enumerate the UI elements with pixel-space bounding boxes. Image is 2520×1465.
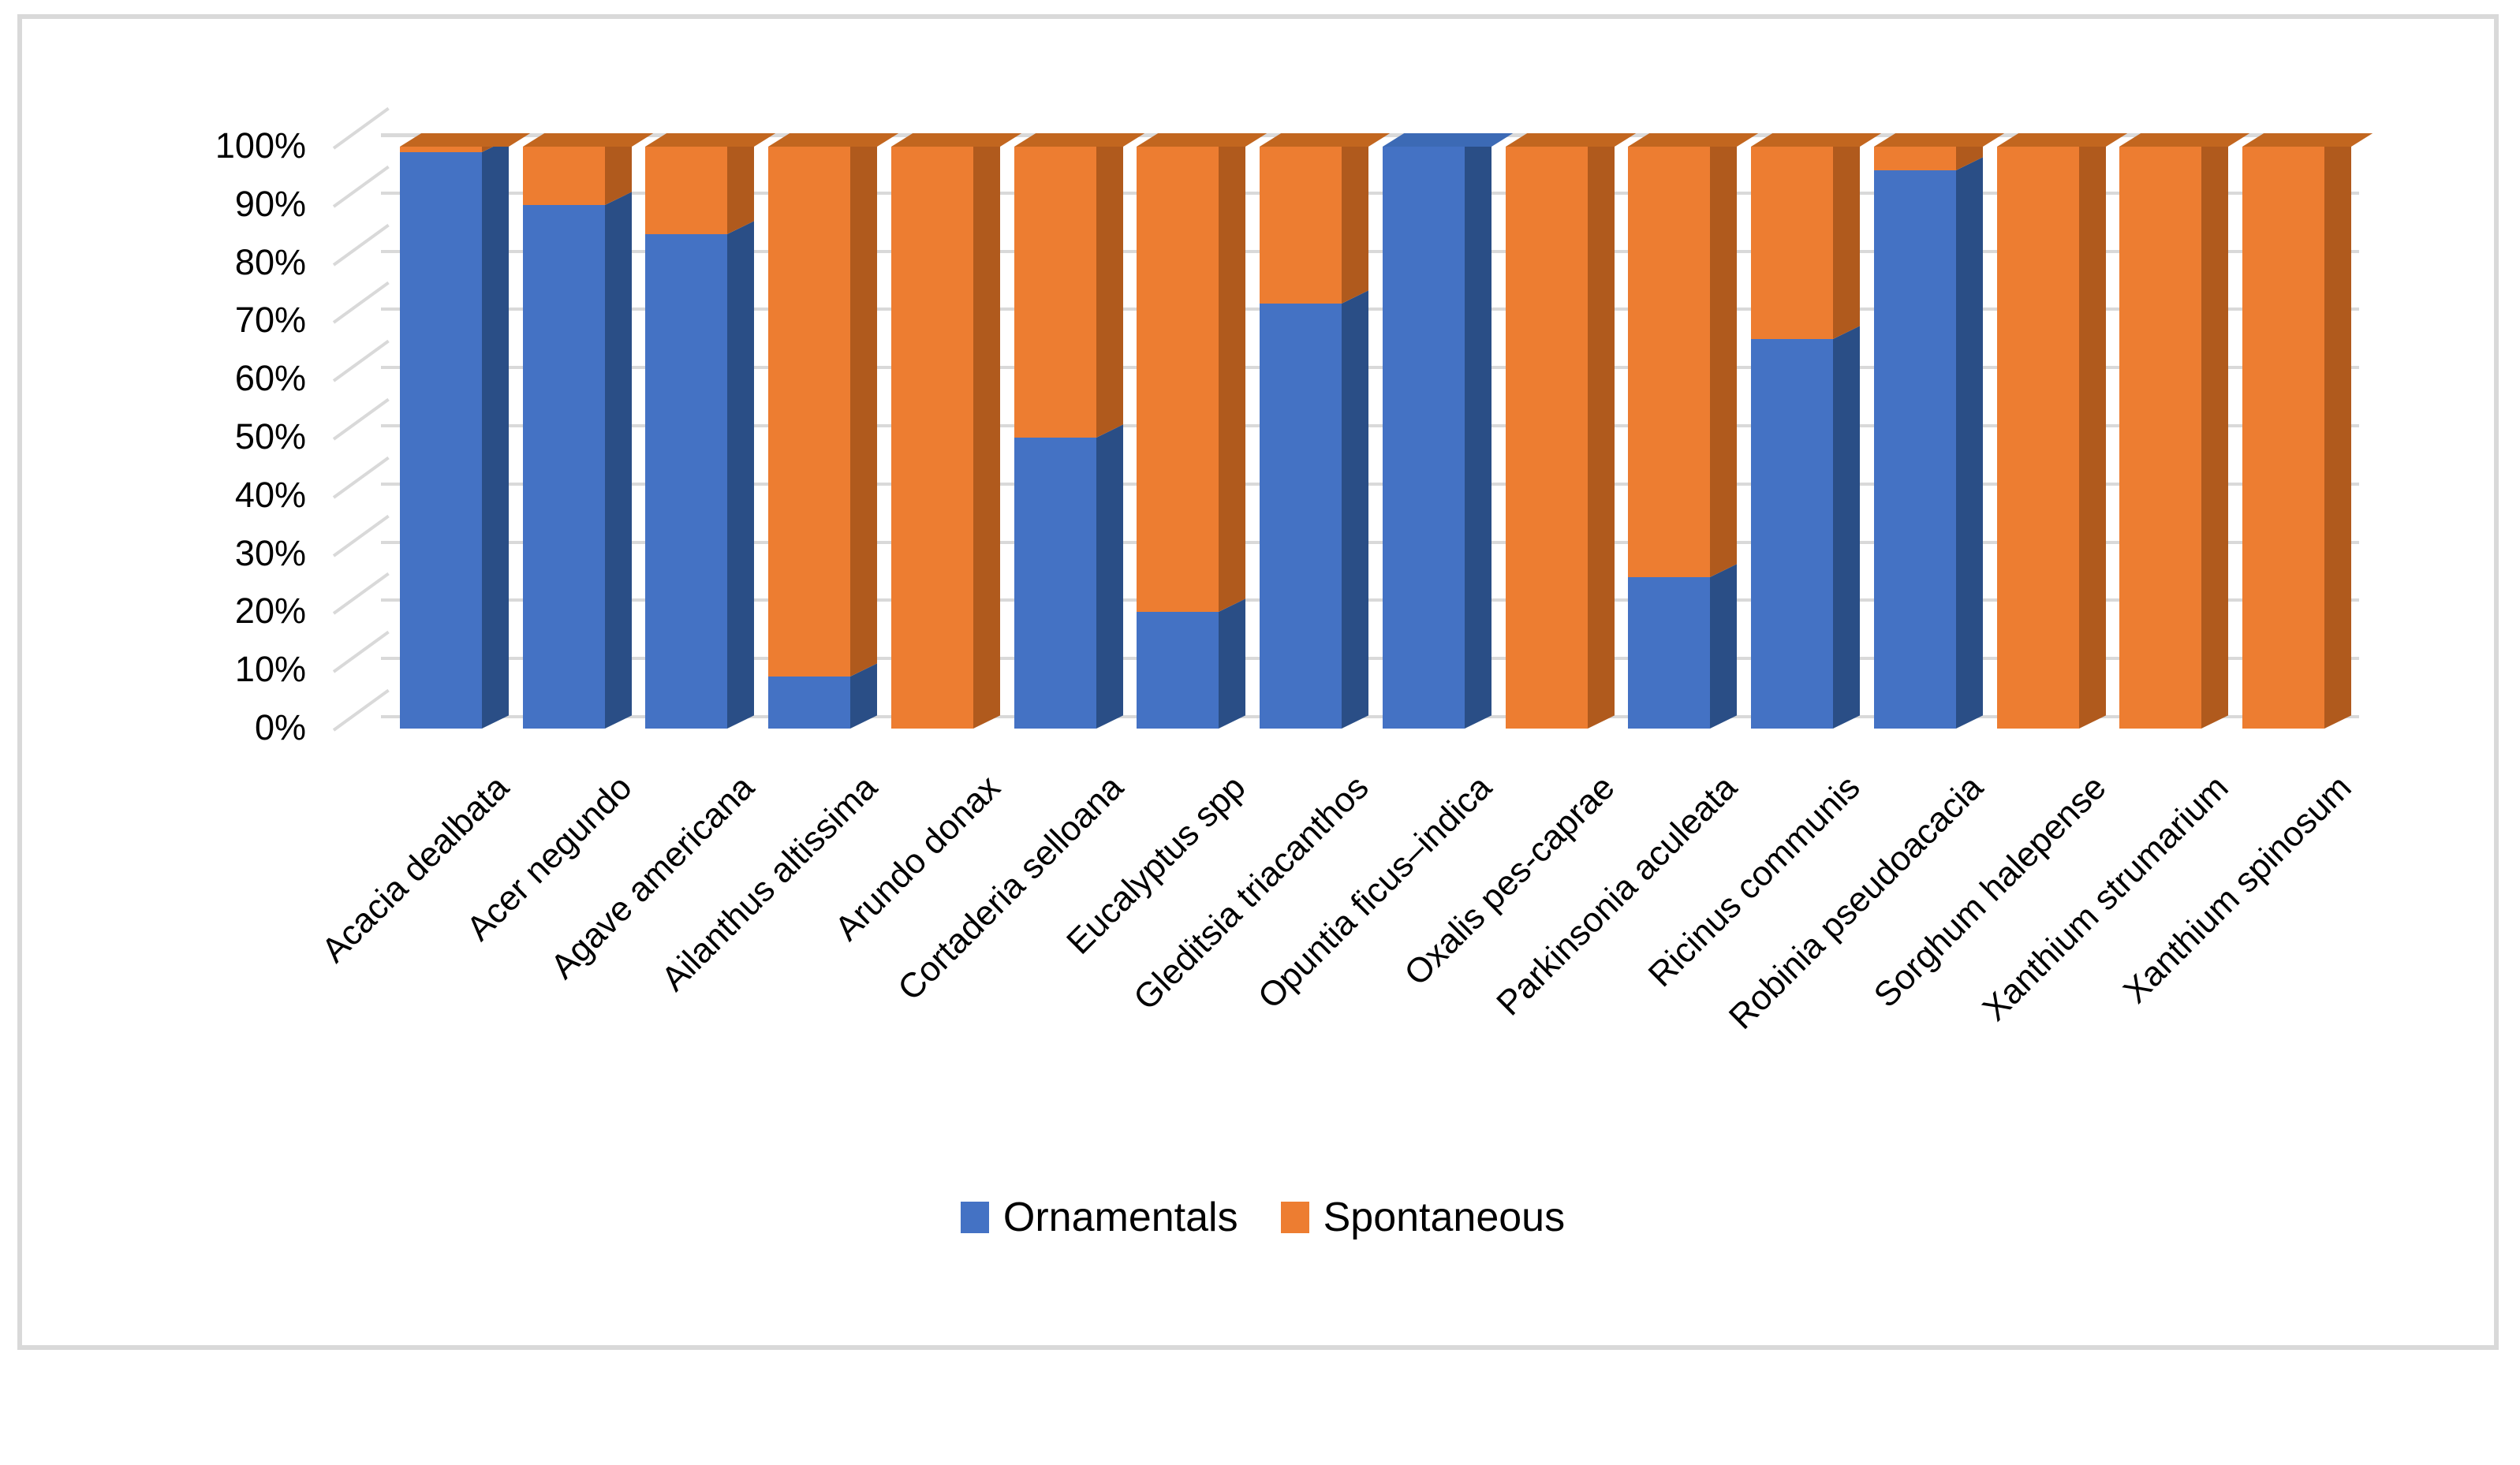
segment-spontaneous[interactable] bbox=[400, 147, 482, 152]
bar-front-face bbox=[1014, 147, 1096, 438]
bar-side-face bbox=[850, 133, 877, 676]
segment-spontaneous[interactable] bbox=[1874, 147, 1956, 170]
bar-column[interactable] bbox=[1506, 147, 1588, 729]
bar-side-face bbox=[1219, 599, 1245, 729]
bar-side-face bbox=[1710, 133, 1737, 577]
legend-swatch-icon bbox=[961, 1202, 989, 1233]
bar-top-face bbox=[1874, 133, 2004, 147]
legend-label: Ornamentals bbox=[1003, 1194, 1238, 1241]
segment-spontaneous[interactable] bbox=[2119, 147, 2201, 729]
bar-column[interactable] bbox=[1014, 147, 1096, 729]
bar-side-face bbox=[2324, 133, 2351, 729]
bar-column[interactable] bbox=[645, 147, 727, 729]
chart-legend: OrnamentalsSpontaneous bbox=[22, 1194, 2503, 1241]
segment-ornamentals[interactable] bbox=[1383, 147, 1465, 729]
y-axis-tick-label: 40% bbox=[156, 477, 306, 513]
chart-frame: 100%90%80%70%60%50%40%30%20%10%0% Acacia… bbox=[17, 14, 2499, 1350]
y-axis-tick-label: 70% bbox=[156, 302, 306, 337]
bar-front-face bbox=[1628, 147, 1710, 577]
segment-ornamentals[interactable] bbox=[1137, 612, 1219, 729]
y-axis-tick-label: 100% bbox=[156, 128, 306, 163]
tick-connector bbox=[333, 281, 390, 324]
bar-front-face bbox=[1874, 170, 1956, 729]
y-axis-tick-label: 20% bbox=[156, 593, 306, 628]
bar-front-face bbox=[1260, 304, 1342, 729]
bar-front-face bbox=[400, 152, 482, 729]
bar-side-face bbox=[1833, 133, 1860, 338]
y-axis-tick-label: 50% bbox=[156, 419, 306, 454]
bar-side-face bbox=[605, 192, 632, 729]
segment-ornamentals[interactable] bbox=[1014, 438, 1096, 729]
bar-side-face bbox=[482, 140, 509, 729]
segment-spontaneous[interactable] bbox=[1997, 147, 2079, 729]
y-axis-tick-label: 90% bbox=[156, 186, 306, 222]
bar-front-face bbox=[1628, 577, 1710, 729]
bar-front-face bbox=[1137, 147, 1219, 612]
tick-connector bbox=[333, 166, 390, 208]
legend-item[interactable]: Spontaneous bbox=[1281, 1194, 1566, 1241]
bar-column[interactable] bbox=[400, 147, 482, 729]
bar-side-face bbox=[1342, 291, 1368, 729]
bar-top-face bbox=[1383, 133, 1513, 147]
bar-front-face bbox=[1014, 438, 1096, 729]
bar-side-face bbox=[1833, 326, 1860, 729]
bar-column[interactable] bbox=[1874, 147, 1956, 729]
segment-ornamentals[interactable] bbox=[523, 205, 605, 729]
bar-side-face bbox=[2201, 133, 2228, 729]
bar-front-face bbox=[1260, 147, 1342, 304]
bar-top-face bbox=[1260, 133, 1390, 147]
bar-column[interactable] bbox=[1751, 147, 1833, 729]
bar-column[interactable] bbox=[523, 147, 605, 729]
segment-spontaneous[interactable] bbox=[1137, 147, 1219, 612]
legend-swatch-icon bbox=[1281, 1202, 1309, 1233]
y-axis-tick-label: 0% bbox=[156, 710, 306, 745]
segment-spontaneous[interactable] bbox=[1506, 147, 1588, 729]
bar-side-face bbox=[1219, 133, 1245, 612]
tick-connector bbox=[333, 340, 390, 382]
tick-connector bbox=[333, 514, 390, 557]
bar-front-face bbox=[645, 234, 727, 729]
bar-top-face bbox=[1014, 133, 1144, 147]
segment-ornamentals[interactable] bbox=[1628, 577, 1710, 729]
bar-front-face bbox=[2242, 147, 2324, 729]
bar-front-face bbox=[1997, 147, 2079, 729]
tick-connector bbox=[333, 572, 390, 615]
bar-side-face bbox=[1465, 133, 1491, 729]
y-axis-labels: 100%90%80%70%60%50%40%30%20%10%0% bbox=[156, 19, 306, 807]
bar-front-face bbox=[1506, 147, 1588, 729]
bar-front-face bbox=[1137, 612, 1219, 729]
bar-front-face bbox=[768, 677, 850, 729]
bar-front-face bbox=[523, 147, 605, 205]
bar-top-face bbox=[400, 133, 530, 147]
y-axis-tick-label: 30% bbox=[156, 535, 306, 571]
bar-side-face bbox=[1342, 133, 1368, 304]
bar-side-face bbox=[1588, 133, 1615, 729]
tick-connector bbox=[333, 107, 390, 150]
y-axis-tick-label: 10% bbox=[156, 651, 306, 687]
bar-column[interactable] bbox=[2242, 147, 2324, 729]
legend-label: Spontaneous bbox=[1323, 1194, 1566, 1241]
bar-column[interactable] bbox=[768, 147, 850, 729]
bar-top-face bbox=[2242, 133, 2373, 147]
bar-top-face bbox=[1751, 133, 1881, 147]
bar-column[interactable] bbox=[1137, 147, 1219, 729]
segment-spontaneous[interactable] bbox=[891, 147, 973, 729]
bar-front-face bbox=[768, 147, 850, 677]
bar-top-face bbox=[2119, 133, 2249, 147]
bar-column[interactable] bbox=[1997, 147, 2079, 729]
bar-front-face bbox=[891, 147, 973, 729]
bar-top-face bbox=[1506, 133, 1636, 147]
segment-spontaneous[interactable] bbox=[1014, 147, 1096, 438]
segment-spontaneous[interactable] bbox=[2242, 147, 2324, 729]
tick-connector bbox=[333, 223, 390, 266]
bar-front-face bbox=[645, 147, 727, 234]
bar-column[interactable] bbox=[1628, 147, 1710, 729]
bar-side-face bbox=[973, 133, 1000, 729]
bar-side-face bbox=[2079, 133, 2106, 729]
segment-spontaneous[interactable] bbox=[1751, 147, 1833, 339]
bar-column[interactable] bbox=[1260, 147, 1342, 729]
bar-front-face bbox=[1751, 339, 1833, 729]
bar-top-face bbox=[891, 133, 1021, 147]
bar-top-face bbox=[645, 133, 775, 147]
bar-side-face bbox=[1096, 133, 1123, 438]
bar-side-face bbox=[727, 133, 754, 233]
bar-top-face bbox=[1137, 133, 1267, 147]
bar-front-face bbox=[523, 205, 605, 729]
plot-area: 100%90%80%70%60%50%40%30%20%10%0% Acacia… bbox=[22, 19, 2503, 1355]
bar-column[interactable] bbox=[2119, 147, 2201, 729]
segment-spontaneous[interactable] bbox=[523, 147, 605, 205]
bar-front-face bbox=[1751, 147, 1833, 339]
y-axis-tick-label: 60% bbox=[156, 360, 306, 396]
tick-connector bbox=[333, 631, 390, 673]
segment-ornamentals[interactable] bbox=[1260, 304, 1342, 729]
bar-front-face bbox=[1383, 147, 1465, 729]
bar-top-face bbox=[768, 133, 898, 147]
y-axis-tick-label: 80% bbox=[156, 244, 306, 280]
bar-top-face bbox=[523, 133, 653, 147]
segment-spontaneous[interactable] bbox=[645, 147, 727, 234]
segment-ornamentals[interactable] bbox=[768, 677, 850, 729]
bar-column[interactable] bbox=[1383, 147, 1465, 729]
segment-ornamentals[interactable] bbox=[1751, 339, 1833, 729]
bar-side-face bbox=[1956, 157, 1983, 729]
segment-ornamentals[interactable] bbox=[1874, 170, 1956, 729]
segment-ornamentals[interactable] bbox=[400, 152, 482, 729]
bar-front-face bbox=[400, 147, 482, 152]
bar-side-face bbox=[1096, 424, 1123, 729]
tick-connector bbox=[333, 457, 390, 499]
bar-side-face bbox=[1710, 565, 1737, 729]
tick-connector bbox=[333, 689, 390, 732]
segment-ornamentals[interactable] bbox=[645, 234, 727, 729]
segment-spontaneous[interactable] bbox=[1260, 147, 1342, 304]
bar-top-face bbox=[1997, 133, 2127, 147]
tick-connector bbox=[333, 398, 390, 441]
bar-side-face bbox=[727, 221, 754, 729]
bar-front-face bbox=[1874, 147, 1956, 170]
bar-column[interactable] bbox=[891, 147, 973, 729]
segment-spontaneous[interactable] bbox=[1628, 147, 1710, 577]
segment-spontaneous[interactable] bbox=[768, 147, 850, 677]
bar-front-face bbox=[2119, 147, 2201, 729]
bar-top-face bbox=[1628, 133, 1758, 147]
legend-item[interactable]: Ornamentals bbox=[961, 1194, 1238, 1241]
